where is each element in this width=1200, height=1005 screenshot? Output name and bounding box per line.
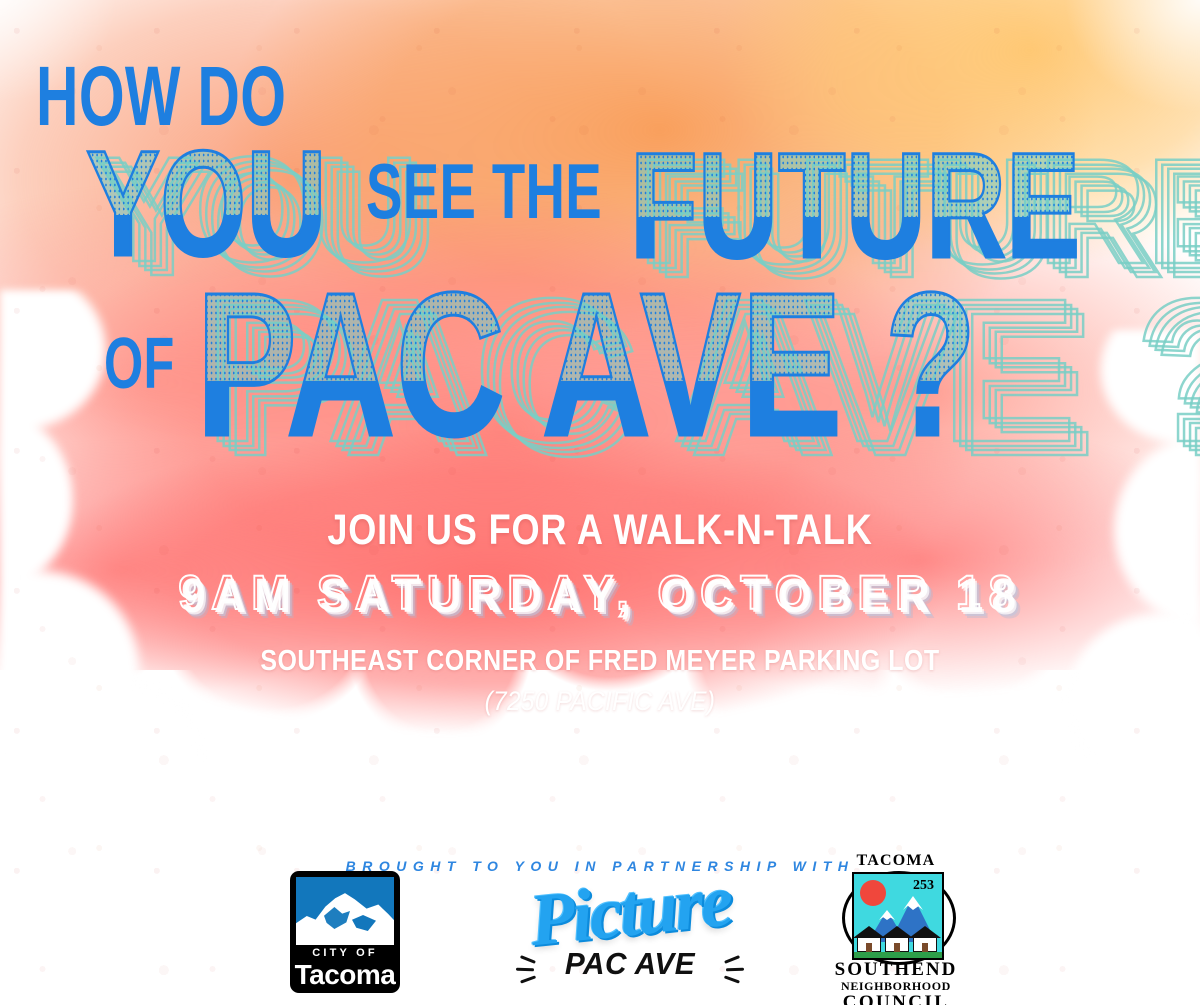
headline-see-the: SEE THE [366,152,602,230]
headline-pac-ave-outline: PAC AVE ? [196,262,977,467]
snc-tacoma-label: TACOMA [830,852,962,870]
pac-ave-sub-wordmark: PAC AVE [500,946,759,982]
tacoma-mountain-base [296,935,394,945]
snc-house-icon-3 [912,926,938,952]
partner-logo-row: CITY OF Tacoma Picture PAC AVE TACOMA 25… [0,866,1200,1005]
picture-pac-ave-logo: Picture PAC AVE [495,874,765,992]
snc-house-icon-2 [884,926,910,952]
snc-mountain-large-snowcap [903,896,923,910]
city-of-tacoma-logo: CITY OF Tacoma [290,871,400,993]
event-address: (7250 PACIFIC AVE) [60,686,1140,717]
snc-house-2-door [894,943,900,952]
southend-neighborhood-council-logo: TACOMA 253 [830,852,962,1005]
snc-ground [854,952,942,958]
tacoma-city-of-label: CITY OF [290,947,400,959]
event-datetime: 9AM SATURDAY, OCTOBER 18 [48,566,1152,621]
snc-wordmark: SOUTHEND NEIGHBORHOOD COUNCIL [830,960,962,1005]
snc-house-icon-1 [856,926,882,952]
snc-line-southend: SOUTHEND [830,960,962,980]
headline-of: OF [104,328,175,400]
snc-scene-icon: 253 [852,872,944,960]
snc-mountain-small-snowcap [879,910,895,920]
headline-pac-ave: PAC AVE ? PAC AVE ? PAC AVE ? PAC AVE ? … [196,262,1200,467]
tacoma-wordmark: Tacoma [290,959,400,991]
snc-line-council: COUNCIL [830,993,962,1005]
snc-sun-icon [860,880,886,906]
snc-area-code: 253 [913,878,934,894]
flyer-poster: HOW DO YOU YOU YOU YOU YOU YOU YOU YOU S… [0,0,1200,1005]
snc-house-1-door [866,943,872,952]
snc-house-3-door [922,943,928,952]
headline-block: HOW DO YOU YOU YOU YOU YOU YOU YOU YOU S… [0,0,1200,1005]
event-venue: SOUTHEAST CORNER OF FRED MEYER PARKING L… [84,645,1116,678]
event-call-to-action: JOIN US FOR A WALK-N-TALK [96,506,1104,555]
